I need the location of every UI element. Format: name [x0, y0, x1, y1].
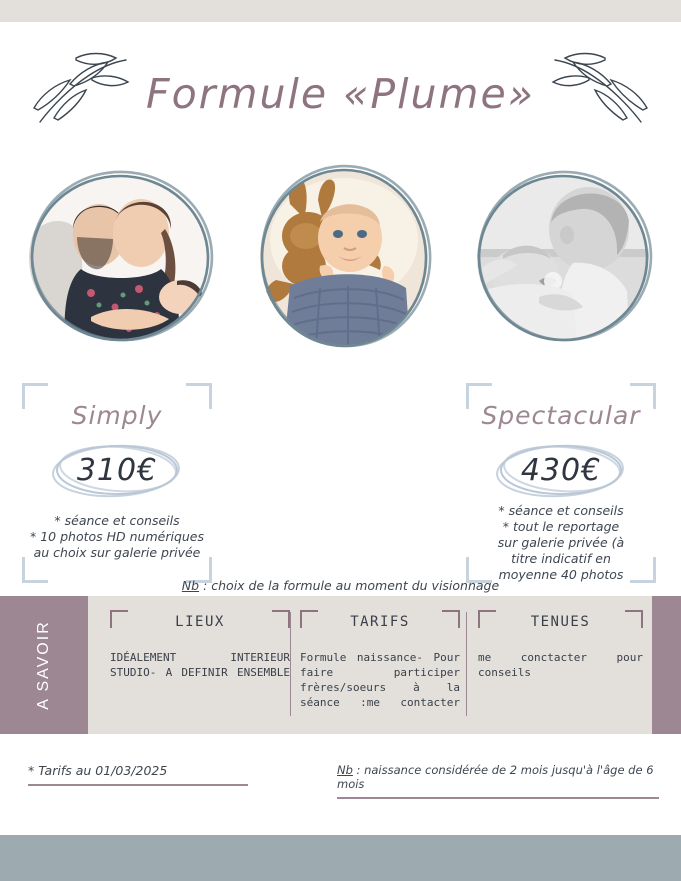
price-oval-spectacular: 430€ [486, 441, 636, 499]
plan-detail-line: * 10 photos HD numériques [26, 529, 208, 545]
band-column-body-tarifs: Formule naissance- Pour faire participer… [300, 650, 460, 710]
plan-detail-line: * tout le reportage [470, 519, 652, 535]
band-column-lieux: LIEUX IDÉALEMENT INTERIEUR STUDIO- A DEF… [110, 610, 290, 680]
band-right-block [652, 596, 681, 734]
band-column-tenues: TENUES me conctacter pour conseils [478, 610, 643, 680]
band-column-header: LIEUX [110, 610, 290, 640]
photo-gallery [0, 163, 681, 363]
plan-detail-line: * séance et conseils [26, 513, 208, 529]
band-column-body-lieux: IDÉALEMENT INTERIEUR STUDIO- A DEFINIR E… [110, 650, 290, 680]
bottom-accent-bar [0, 835, 681, 881]
photo-sibling-kiss [470, 170, 656, 346]
footer-tarifs-date: * Tarifs au 01/03/2025 [28, 763, 248, 786]
footer-note-prefix: Nb [337, 763, 353, 777]
band-column-header: TARIFS [300, 610, 460, 640]
plan-card-spectacular: Spectacular 430€ * séance et conseils * … [466, 383, 656, 583]
plan-detail-line: titre indicatif en [470, 551, 652, 567]
price-oval-simply: 310€ [42, 441, 192, 499]
price-value-simply: 310€ [42, 441, 192, 499]
band-divider [290, 612, 291, 716]
page-title: Formule «Plume» [0, 70, 681, 118]
plan-name-spectacular: Spectacular [466, 401, 656, 430]
footer: * Tarifs au 01/03/2025 Nb : naissance co… [0, 755, 681, 801]
note-text: : choix de la formule au moment du visio… [199, 578, 499, 593]
photo-ring-sketch [470, 170, 656, 346]
photo-ring-sketch [22, 170, 218, 346]
footer-note-naissance: Nb : naissance considérée de 2 mois jusq… [337, 763, 659, 799]
plan-detail-line: * séance et conseils [470, 503, 652, 519]
band-divider [466, 612, 467, 716]
band-label-text: A SAVOIR [35, 620, 53, 710]
band-column-header: TENUES [478, 610, 643, 640]
pricing-flyer-page: Formule «Plume» [0, 0, 681, 881]
footer-note-text: : naissance considérée de 2 mois jusqu'à… [337, 763, 654, 791]
price-value-spectacular: 430€ [486, 441, 636, 499]
plan-name-simply: Simply [22, 401, 212, 430]
band-column-title-tenues: TENUES [478, 614, 643, 630]
plan-details-simply: * séance et conseils * 10 photos HD numé… [26, 513, 208, 561]
plan-details-spectacular: * séance et conseils * tout le reportage… [470, 503, 652, 583]
photo-ring-sketch [253, 163, 435, 353]
photo-family-newborn [22, 170, 218, 346]
band-column-title-lieux: LIEUX [110, 614, 290, 630]
note-formule-choice: Nb : choix de la formule au moment du vi… [0, 578, 681, 593]
band-label: A SAVOIR [0, 596, 88, 734]
a-savoir-band: A SAVOIR LIEUX IDÉALEMENT INTERIEUR STUD… [0, 596, 681, 734]
band-column-body-tenues: me conctacter pour conseils [478, 650, 643, 680]
band-column-title-tarifs: TARIFS [300, 614, 460, 630]
plan-card-simply: Simply 310€ * séance et conseils * 10 ph… [22, 383, 212, 583]
plan-detail-line: au choix sur galerie privée [26, 545, 208, 561]
top-accent-bar [0, 0, 681, 22]
note-prefix: Nb [182, 578, 199, 593]
photo-baby-bunny [253, 163, 435, 353]
header: Formule «Plume» [0, 22, 681, 152]
plan-detail-line: sur galerie privée (à [470, 535, 652, 551]
band-column-tarifs: TARIFS Formule naissance- Pour faire par… [300, 610, 460, 710]
